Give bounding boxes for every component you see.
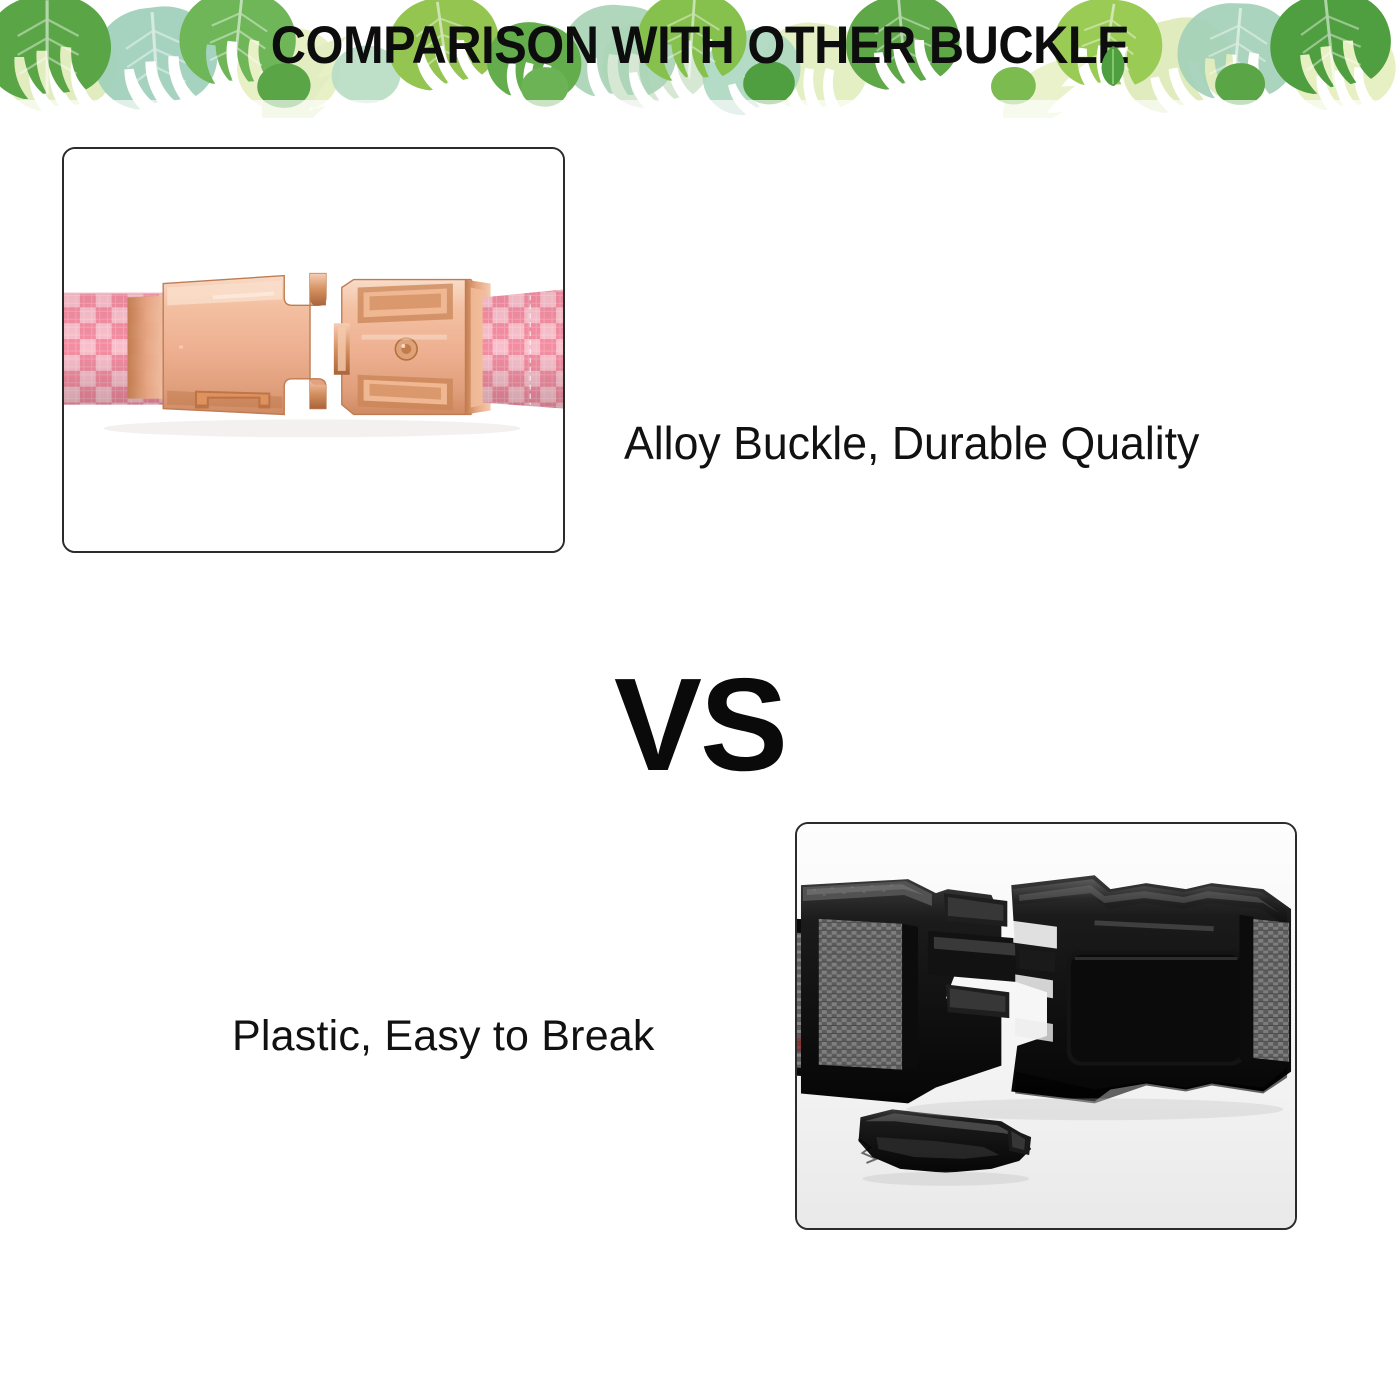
plastic-buckle-male-half (801, 879, 1021, 1103)
alloy-buckle-photo (64, 149, 563, 551)
vs-label: VS (0, 655, 1400, 795)
header-leaf-band: COMPARISON WITH OTHER BUCKLE (0, 0, 1400, 118)
plastic-buckle-photo-frame (795, 822, 1297, 1230)
page-title: COMPARISON WITH OTHER BUCKLE (56, 17, 1344, 75)
plastic-buckle-female-half (1011, 875, 1291, 1103)
infographic-page: COMPARISON WITH OTHER BUCKLE (0, 0, 1400, 1380)
alloy-buckle-caption: Alloy Buckle, Durable Quality (624, 415, 1218, 471)
plastic-buckle-photo (797, 824, 1295, 1228)
right-collar-strap (483, 289, 563, 408)
alloy-buckle-female-half (334, 280, 491, 415)
alloy-buckle-photo-frame (62, 147, 565, 553)
plastic-buckle-caption: Plastic, Easy to Break (232, 1009, 792, 1063)
